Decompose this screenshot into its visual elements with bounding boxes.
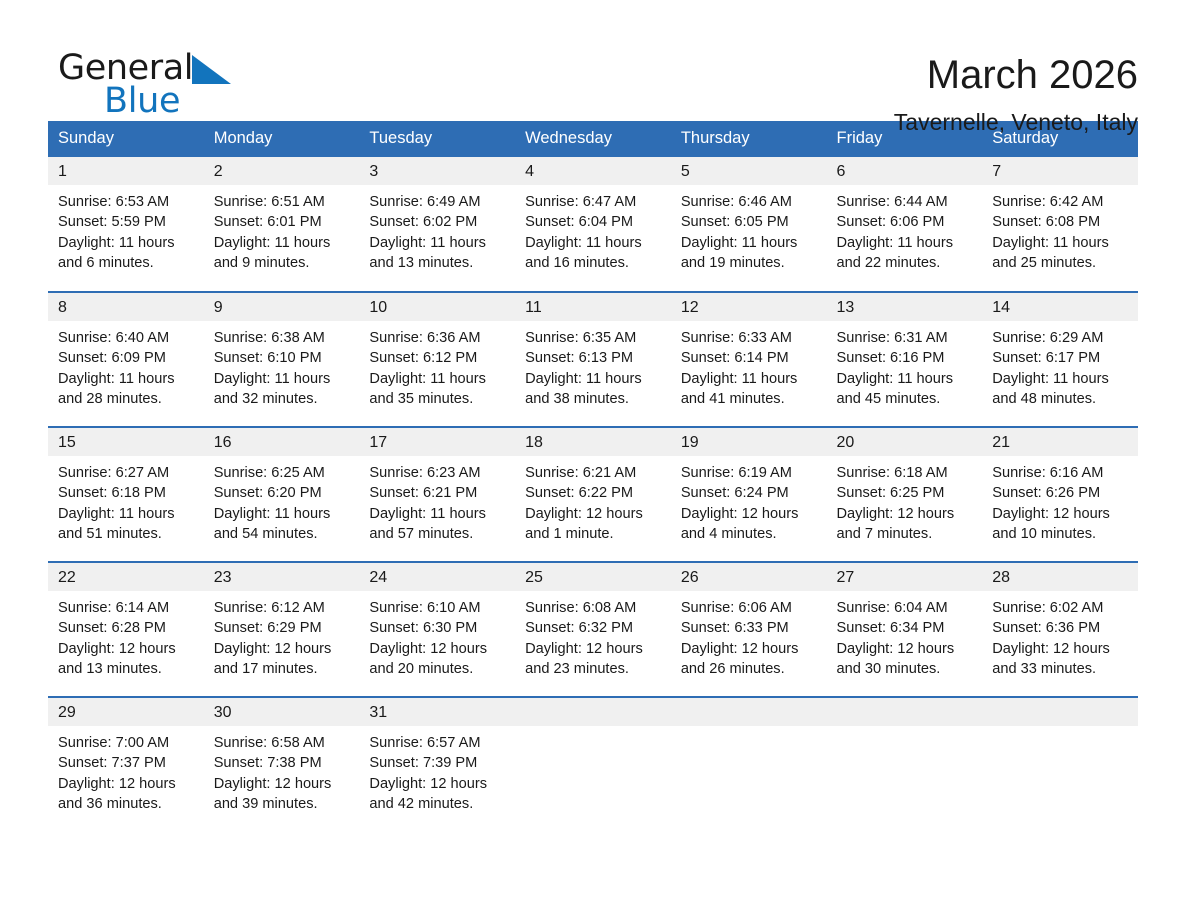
calendar-day-cell-empty	[827, 697, 983, 832]
sunset-text: Sunset: 6:26 PM	[992, 483, 1130, 503]
sunset-text: Sunset: 6:24 PM	[681, 483, 819, 503]
calendar-day-cell[interactable]: 21Sunrise: 6:16 AMSunset: 6:26 PMDayligh…	[982, 427, 1138, 562]
calendar-day-cell[interactable]: 26Sunrise: 6:06 AMSunset: 6:33 PMDayligh…	[671, 562, 827, 697]
daylight-text-line2: and 30 minutes.	[837, 659, 975, 679]
day-number: 11	[515, 293, 671, 321]
sunrise-text: Sunrise: 6:04 AM	[837, 598, 975, 618]
sunset-text: Sunset: 6:17 PM	[992, 348, 1130, 368]
daylight-text-line1: Daylight: 12 hours	[369, 774, 507, 794]
sunrise-text: Sunrise: 6:08 AM	[525, 598, 663, 618]
day-info: Sunrise: 6:35 AMSunset: 6:13 PMDaylight:…	[515, 321, 671, 409]
day-number	[515, 698, 671, 726]
sunrise-text: Sunrise: 6:16 AM	[992, 463, 1130, 483]
calendar-day-cell[interactable]: 30Sunrise: 6:58 AMSunset: 7:38 PMDayligh…	[204, 697, 360, 832]
day-number: 5	[671, 157, 827, 185]
sunset-text: Sunset: 6:32 PM	[525, 618, 663, 638]
calendar-day-cell[interactable]: 17Sunrise: 6:23 AMSunset: 6:21 PMDayligh…	[359, 427, 515, 562]
calendar-week-row: 1Sunrise: 6:53 AMSunset: 5:59 PMDaylight…	[48, 157, 1138, 292]
sunrise-text: Sunrise: 6:51 AM	[214, 192, 352, 212]
day-number: 23	[204, 563, 360, 591]
calendar-day-cell[interactable]: 31Sunrise: 6:57 AMSunset: 7:39 PMDayligh…	[359, 697, 515, 832]
sunrise-text: Sunrise: 6:02 AM	[992, 598, 1130, 618]
sunrise-text: Sunrise: 6:10 AM	[369, 598, 507, 618]
sunrise-text: Sunrise: 7:00 AM	[58, 733, 196, 753]
sunrise-text: Sunrise: 6:33 AM	[681, 328, 819, 348]
sunset-text: Sunset: 6:06 PM	[837, 212, 975, 232]
sunrise-text: Sunrise: 6:27 AM	[58, 463, 196, 483]
calendar-day-cell[interactable]: 29Sunrise: 7:00 AMSunset: 7:37 PMDayligh…	[48, 697, 204, 832]
calendar-day-cell[interactable]: 15Sunrise: 6:27 AMSunset: 6:18 PMDayligh…	[48, 427, 204, 562]
daylight-text-line2: and 23 minutes.	[525, 659, 663, 679]
day-number: 26	[671, 563, 827, 591]
day-number	[671, 698, 827, 726]
daylight-text-line1: Daylight: 12 hours	[58, 774, 196, 794]
day-info: Sunrise: 6:12 AMSunset: 6:29 PMDaylight:…	[204, 591, 360, 679]
daylight-text-line1: Daylight: 12 hours	[214, 639, 352, 659]
calendar-grid: Sunday Monday Tuesday Wednesday Thursday…	[48, 121, 1138, 832]
sunrise-text: Sunrise: 6:47 AM	[525, 192, 663, 212]
calendar-day-cell[interactable]: 11Sunrise: 6:35 AMSunset: 6:13 PMDayligh…	[515, 292, 671, 427]
sunset-text: Sunset: 6:01 PM	[214, 212, 352, 232]
sunset-text: Sunset: 7:39 PM	[369, 753, 507, 773]
sunset-text: Sunset: 6:34 PM	[837, 618, 975, 638]
daylight-text-line1: Daylight: 11 hours	[214, 504, 352, 524]
sunrise-text: Sunrise: 6:49 AM	[369, 192, 507, 212]
daylight-text-line2: and 4 minutes.	[681, 524, 819, 544]
daylight-text-line1: Daylight: 12 hours	[681, 639, 819, 659]
page-header: General Blue March 2026 Tavernelle, Vene…	[0, 0, 1188, 110]
day-info: Sunrise: 6:25 AMSunset: 6:20 PMDaylight:…	[204, 456, 360, 544]
daylight-text-line2: and 6 minutes.	[58, 253, 196, 273]
calendar-week-row: 8Sunrise: 6:40 AMSunset: 6:09 PMDaylight…	[48, 292, 1138, 427]
day-number: 2	[204, 157, 360, 185]
sunrise-text: Sunrise: 6:57 AM	[369, 733, 507, 753]
calendar-week-row: 22Sunrise: 6:14 AMSunset: 6:28 PMDayligh…	[48, 562, 1138, 697]
daylight-text-line1: Daylight: 12 hours	[525, 504, 663, 524]
day-info: Sunrise: 6:44 AMSunset: 6:06 PMDaylight:…	[827, 185, 983, 273]
daylight-text-line1: Daylight: 11 hours	[681, 369, 819, 389]
sunrise-text: Sunrise: 6:35 AM	[525, 328, 663, 348]
daylight-text-line1: Daylight: 11 hours	[369, 369, 507, 389]
sunrise-text: Sunrise: 6:40 AM	[58, 328, 196, 348]
day-number: 6	[827, 157, 983, 185]
calendar-page: General Blue March 2026 Tavernelle, Vene…	[0, 0, 1188, 918]
sunset-text: Sunset: 6:09 PM	[58, 348, 196, 368]
daylight-text-line1: Daylight: 11 hours	[58, 233, 196, 253]
sunset-text: Sunset: 5:59 PM	[58, 212, 196, 232]
daylight-text-line1: Daylight: 12 hours	[681, 504, 819, 524]
daylight-text-line2: and 1 minute.	[525, 524, 663, 544]
day-number: 19	[671, 428, 827, 456]
sunrise-text: Sunrise: 6:19 AM	[681, 463, 819, 483]
daylight-text-line1: Daylight: 11 hours	[58, 504, 196, 524]
sunset-text: Sunset: 6:29 PM	[214, 618, 352, 638]
daylight-text-line2: and 42 minutes.	[369, 794, 507, 814]
calendar-day-cell[interactable]: 25Sunrise: 6:08 AMSunset: 6:32 PMDayligh…	[515, 562, 671, 697]
calendar-week-row: 15Sunrise: 6:27 AMSunset: 6:18 PMDayligh…	[48, 427, 1138, 562]
sunset-text: Sunset: 6:10 PM	[214, 348, 352, 368]
day-number: 13	[827, 293, 983, 321]
calendar-day-cell[interactable]: 3Sunrise: 6:49 AMSunset: 6:02 PMDaylight…	[359, 157, 515, 292]
daylight-text-line2: and 17 minutes.	[214, 659, 352, 679]
daylight-text-line1: Daylight: 12 hours	[369, 639, 507, 659]
sunset-text: Sunset: 6:16 PM	[837, 348, 975, 368]
daylight-text-line1: Daylight: 11 hours	[525, 369, 663, 389]
sunrise-text: Sunrise: 6:36 AM	[369, 328, 507, 348]
day-number: 17	[359, 428, 515, 456]
daylight-text-line2: and 35 minutes.	[369, 389, 507, 409]
calendar-day-cell[interactable]: 22Sunrise: 6:14 AMSunset: 6:28 PMDayligh…	[48, 562, 204, 697]
sunset-text: Sunset: 6:02 PM	[369, 212, 507, 232]
sunrise-text: Sunrise: 6:58 AM	[214, 733, 352, 753]
calendar-day-cell[interactable]: 10Sunrise: 6:36 AMSunset: 6:12 PMDayligh…	[359, 292, 515, 427]
daylight-text-line2: and 57 minutes.	[369, 524, 507, 544]
daylight-text-line2: and 48 minutes.	[992, 389, 1130, 409]
day-number: 16	[204, 428, 360, 456]
day-number: 4	[515, 157, 671, 185]
day-info: Sunrise: 6:33 AMSunset: 6:14 PMDaylight:…	[671, 321, 827, 409]
calendar-day-cell[interactable]: 2Sunrise: 6:51 AMSunset: 6:01 PMDaylight…	[204, 157, 360, 292]
day-info: Sunrise: 6:58 AMSunset: 7:38 PMDaylight:…	[204, 726, 360, 814]
daylight-text-line2: and 32 minutes.	[214, 389, 352, 409]
daylight-text-line1: Daylight: 12 hours	[837, 639, 975, 659]
logo-word-blue: Blue	[104, 81, 180, 121]
calendar-day-cell[interactable]: 12Sunrise: 6:33 AMSunset: 6:14 PMDayligh…	[671, 292, 827, 427]
daylight-text-line2: and 10 minutes.	[992, 524, 1130, 544]
day-info: Sunrise: 6:38 AMSunset: 6:10 PMDaylight:…	[204, 321, 360, 409]
calendar-day-cell-empty	[671, 697, 827, 832]
day-info: Sunrise: 6:21 AMSunset: 6:22 PMDaylight:…	[515, 456, 671, 544]
day-info: Sunrise: 6:49 AMSunset: 6:02 PMDaylight:…	[359, 185, 515, 273]
weekday-header-thursday: Thursday	[671, 121, 827, 157]
daylight-text-line2: and 45 minutes.	[837, 389, 975, 409]
page-title: March 2026	[894, 50, 1138, 100]
calendar-table: Sunday Monday Tuesday Wednesday Thursday…	[48, 121, 1138, 832]
daylight-text-line2: and 39 minutes.	[214, 794, 352, 814]
day-info: Sunrise: 6:08 AMSunset: 6:32 PMDaylight:…	[515, 591, 671, 679]
day-number: 8	[48, 293, 204, 321]
day-number: 12	[671, 293, 827, 321]
daylight-text-line1: Daylight: 12 hours	[525, 639, 663, 659]
triangle-icon	[192, 55, 231, 84]
sunset-text: Sunset: 6:28 PM	[58, 618, 196, 638]
daylight-text-line2: and 25 minutes.	[992, 253, 1130, 273]
sunset-text: Sunset: 6:21 PM	[369, 483, 507, 503]
daylight-text-line2: and 54 minutes.	[214, 524, 352, 544]
sunset-text: Sunset: 6:36 PM	[992, 618, 1130, 638]
day-number: 27	[827, 563, 983, 591]
daylight-text-line2: and 13 minutes.	[369, 253, 507, 273]
day-number: 31	[359, 698, 515, 726]
sunset-text: Sunset: 6:12 PM	[369, 348, 507, 368]
daylight-text-line2: and 36 minutes.	[58, 794, 196, 814]
day-number: 30	[204, 698, 360, 726]
day-number: 21	[982, 428, 1138, 456]
day-number: 7	[982, 157, 1138, 185]
day-info: Sunrise: 6:31 AMSunset: 6:16 PMDaylight:…	[827, 321, 983, 409]
day-info: Sunrise: 6:46 AMSunset: 6:05 PMDaylight:…	[671, 185, 827, 273]
daylight-text-line1: Daylight: 11 hours	[837, 369, 975, 389]
title-block: March 2026 Tavernelle, Veneto, Italy	[894, 48, 1138, 138]
day-number: 29	[48, 698, 204, 726]
sunset-text: Sunset: 6:25 PM	[837, 483, 975, 503]
day-info: Sunrise: 6:06 AMSunset: 6:33 PMDaylight:…	[671, 591, 827, 679]
day-number: 14	[982, 293, 1138, 321]
sunrise-text: Sunrise: 6:18 AM	[837, 463, 975, 483]
weekday-header-sunday: Sunday	[48, 121, 204, 157]
daylight-text-line1: Daylight: 11 hours	[992, 233, 1130, 253]
day-info: Sunrise: 6:57 AMSunset: 7:39 PMDaylight:…	[359, 726, 515, 814]
calendar-day-cell[interactable]: 4Sunrise: 6:47 AMSunset: 6:04 PMDaylight…	[515, 157, 671, 292]
day-info: Sunrise: 6:36 AMSunset: 6:12 PMDaylight:…	[359, 321, 515, 409]
calendar-day-cell[interactable]: 13Sunrise: 6:31 AMSunset: 6:16 PMDayligh…	[827, 292, 983, 427]
daylight-text-line2: and 28 minutes.	[58, 389, 196, 409]
calendar-day-cell[interactable]: 18Sunrise: 6:21 AMSunset: 6:22 PMDayligh…	[515, 427, 671, 562]
day-number: 18	[515, 428, 671, 456]
daylight-text-line2: and 20 minutes.	[369, 659, 507, 679]
day-number: 22	[48, 563, 204, 591]
calendar-day-cell[interactable]: 28Sunrise: 6:02 AMSunset: 6:36 PMDayligh…	[982, 562, 1138, 697]
calendar-day-cell[interactable]: 14Sunrise: 6:29 AMSunset: 6:17 PMDayligh…	[982, 292, 1138, 427]
calendar-day-cell[interactable]: 19Sunrise: 6:19 AMSunset: 6:24 PMDayligh…	[671, 427, 827, 562]
sunrise-text: Sunrise: 6:38 AM	[214, 328, 352, 348]
daylight-text-line2: and 51 minutes.	[58, 524, 196, 544]
calendar-day-cell[interactable]: 23Sunrise: 6:12 AMSunset: 6:29 PMDayligh…	[204, 562, 360, 697]
calendar-day-cell-empty	[982, 697, 1138, 832]
day-number: 3	[359, 157, 515, 185]
sunset-text: Sunset: 6:20 PM	[214, 483, 352, 503]
daylight-text-line1: Daylight: 11 hours	[214, 369, 352, 389]
daylight-text-line1: Daylight: 12 hours	[58, 639, 196, 659]
calendar-day-cell[interactable]: 24Sunrise: 6:10 AMSunset: 6:30 PMDayligh…	[359, 562, 515, 697]
sunset-text: Sunset: 6:05 PM	[681, 212, 819, 232]
weekday-header-tuesday: Tuesday	[359, 121, 515, 157]
day-number: 24	[359, 563, 515, 591]
day-info: Sunrise: 6:10 AMSunset: 6:30 PMDaylight:…	[359, 591, 515, 679]
calendar-day-cell[interactable]: 1Sunrise: 6:53 AMSunset: 5:59 PMDaylight…	[48, 157, 204, 292]
day-info: Sunrise: 7:00 AMSunset: 7:37 PMDaylight:…	[48, 726, 204, 814]
sunset-text: Sunset: 6:33 PM	[681, 618, 819, 638]
sunrise-text: Sunrise: 6:12 AM	[214, 598, 352, 618]
sunset-text: Sunset: 6:22 PM	[525, 483, 663, 503]
daylight-text-line2: and 38 minutes.	[525, 389, 663, 409]
day-info: Sunrise: 6:40 AMSunset: 6:09 PMDaylight:…	[48, 321, 204, 409]
daylight-text-line1: Daylight: 11 hours	[837, 233, 975, 253]
sunset-text: Sunset: 6:13 PM	[525, 348, 663, 368]
day-info: Sunrise: 6:27 AMSunset: 6:18 PMDaylight:…	[48, 456, 204, 544]
calendar-day-cell[interactable]: 8Sunrise: 6:40 AMSunset: 6:09 PMDaylight…	[48, 292, 204, 427]
sunset-text: Sunset: 6:18 PM	[58, 483, 196, 503]
day-info: Sunrise: 6:04 AMSunset: 6:34 PMDaylight:…	[827, 591, 983, 679]
sunrise-text: Sunrise: 6:23 AM	[369, 463, 507, 483]
calendar-day-cell[interactable]: 27Sunrise: 6:04 AMSunset: 6:34 PMDayligh…	[827, 562, 983, 697]
daylight-text-line1: Daylight: 11 hours	[525, 233, 663, 253]
calendar-day-cell[interactable]: 6Sunrise: 6:44 AMSunset: 6:06 PMDaylight…	[827, 157, 983, 292]
day-info: Sunrise: 6:02 AMSunset: 6:36 PMDaylight:…	[982, 591, 1138, 679]
day-info: Sunrise: 6:23 AMSunset: 6:21 PMDaylight:…	[359, 456, 515, 544]
sunrise-text: Sunrise: 6:06 AM	[681, 598, 819, 618]
sunrise-text: Sunrise: 6:46 AM	[681, 192, 819, 212]
daylight-text-line1: Daylight: 12 hours	[214, 774, 352, 794]
sunrise-text: Sunrise: 6:29 AM	[992, 328, 1130, 348]
daylight-text-line2: and 16 minutes.	[525, 253, 663, 273]
day-number: 9	[204, 293, 360, 321]
sunset-text: Sunset: 6:30 PM	[369, 618, 507, 638]
daylight-text-line1: Daylight: 12 hours	[992, 639, 1130, 659]
calendar-day-cell[interactable]: 20Sunrise: 6:18 AMSunset: 6:25 PMDayligh…	[827, 427, 983, 562]
weekday-header-monday: Monday	[204, 121, 360, 157]
daylight-text-line2: and 19 minutes.	[681, 253, 819, 273]
day-number: 20	[827, 428, 983, 456]
day-info: Sunrise: 6:51 AMSunset: 6:01 PMDaylight:…	[204, 185, 360, 273]
day-info: Sunrise: 6:19 AMSunset: 6:24 PMDaylight:…	[671, 456, 827, 544]
daylight-text-line2: and 22 minutes.	[837, 253, 975, 273]
day-info: Sunrise: 6:14 AMSunset: 6:28 PMDaylight:…	[48, 591, 204, 679]
sunset-text: Sunset: 7:38 PM	[214, 753, 352, 773]
day-info: Sunrise: 6:42 AMSunset: 6:08 PMDaylight:…	[982, 185, 1138, 273]
day-info: Sunrise: 6:16 AMSunset: 6:26 PMDaylight:…	[982, 456, 1138, 544]
sunrise-text: Sunrise: 6:31 AM	[837, 328, 975, 348]
daylight-text-line1: Daylight: 11 hours	[369, 504, 507, 524]
sunrise-text: Sunrise: 6:25 AM	[214, 463, 352, 483]
weekday-header-wednesday: Wednesday	[515, 121, 671, 157]
daylight-text-line1: Daylight: 12 hours	[837, 504, 975, 524]
sunrise-text: Sunrise: 6:14 AM	[58, 598, 196, 618]
day-info: Sunrise: 6:18 AMSunset: 6:25 PMDaylight:…	[827, 456, 983, 544]
day-number: 25	[515, 563, 671, 591]
calendar-day-cell[interactable]: 16Sunrise: 6:25 AMSunset: 6:20 PMDayligh…	[204, 427, 360, 562]
generalblue-logo[interactable]: General Blue	[58, 48, 258, 118]
calendar-day-cell[interactable]: 7Sunrise: 6:42 AMSunset: 6:08 PMDaylight…	[982, 157, 1138, 292]
day-number: 10	[359, 293, 515, 321]
daylight-text-line2: and 41 minutes.	[681, 389, 819, 409]
sunset-text: Sunset: 6:04 PM	[525, 212, 663, 232]
calendar-body: 1Sunrise: 6:53 AMSunset: 5:59 PMDaylight…	[48, 157, 1138, 832]
sunset-text: Sunset: 6:14 PM	[681, 348, 819, 368]
daylight-text-line2: and 13 minutes.	[58, 659, 196, 679]
day-info: Sunrise: 6:29 AMSunset: 6:17 PMDaylight:…	[982, 321, 1138, 409]
calendar-day-cell[interactable]: 5Sunrise: 6:46 AMSunset: 6:05 PMDaylight…	[671, 157, 827, 292]
day-info: Sunrise: 6:53 AMSunset: 5:59 PMDaylight:…	[48, 185, 204, 273]
daylight-text-line1: Daylight: 11 hours	[58, 369, 196, 389]
sunrise-text: Sunrise: 6:21 AM	[525, 463, 663, 483]
day-number: 28	[982, 563, 1138, 591]
calendar-day-cell-empty	[515, 697, 671, 832]
sunrise-text: Sunrise: 6:44 AM	[837, 192, 975, 212]
day-number	[827, 698, 983, 726]
sunset-text: Sunset: 7:37 PM	[58, 753, 196, 773]
daylight-text-line1: Daylight: 11 hours	[214, 233, 352, 253]
daylight-text-line1: Daylight: 11 hours	[992, 369, 1130, 389]
sunrise-text: Sunrise: 6:53 AM	[58, 192, 196, 212]
sunrise-text: Sunrise: 6:42 AM	[992, 192, 1130, 212]
sunset-text: Sunset: 6:08 PM	[992, 212, 1130, 232]
daylight-text-line1: Daylight: 12 hours	[992, 504, 1130, 524]
calendar-day-cell[interactable]: 9Sunrise: 6:38 AMSunset: 6:10 PMDaylight…	[204, 292, 360, 427]
calendar-week-row: 29Sunrise: 7:00 AMSunset: 7:37 PMDayligh…	[48, 697, 1138, 832]
day-number: 15	[48, 428, 204, 456]
day-number	[982, 698, 1138, 726]
daylight-text-line1: Daylight: 11 hours	[681, 233, 819, 253]
day-number: 1	[48, 157, 204, 185]
daylight-text-line2: and 33 minutes.	[992, 659, 1130, 679]
daylight-text-line1: Daylight: 11 hours	[369, 233, 507, 253]
daylight-text-line2: and 7 minutes.	[837, 524, 975, 544]
day-info: Sunrise: 6:47 AMSunset: 6:04 PMDaylight:…	[515, 185, 671, 273]
daylight-text-line2: and 26 minutes.	[681, 659, 819, 679]
daylight-text-line2: and 9 minutes.	[214, 253, 352, 273]
